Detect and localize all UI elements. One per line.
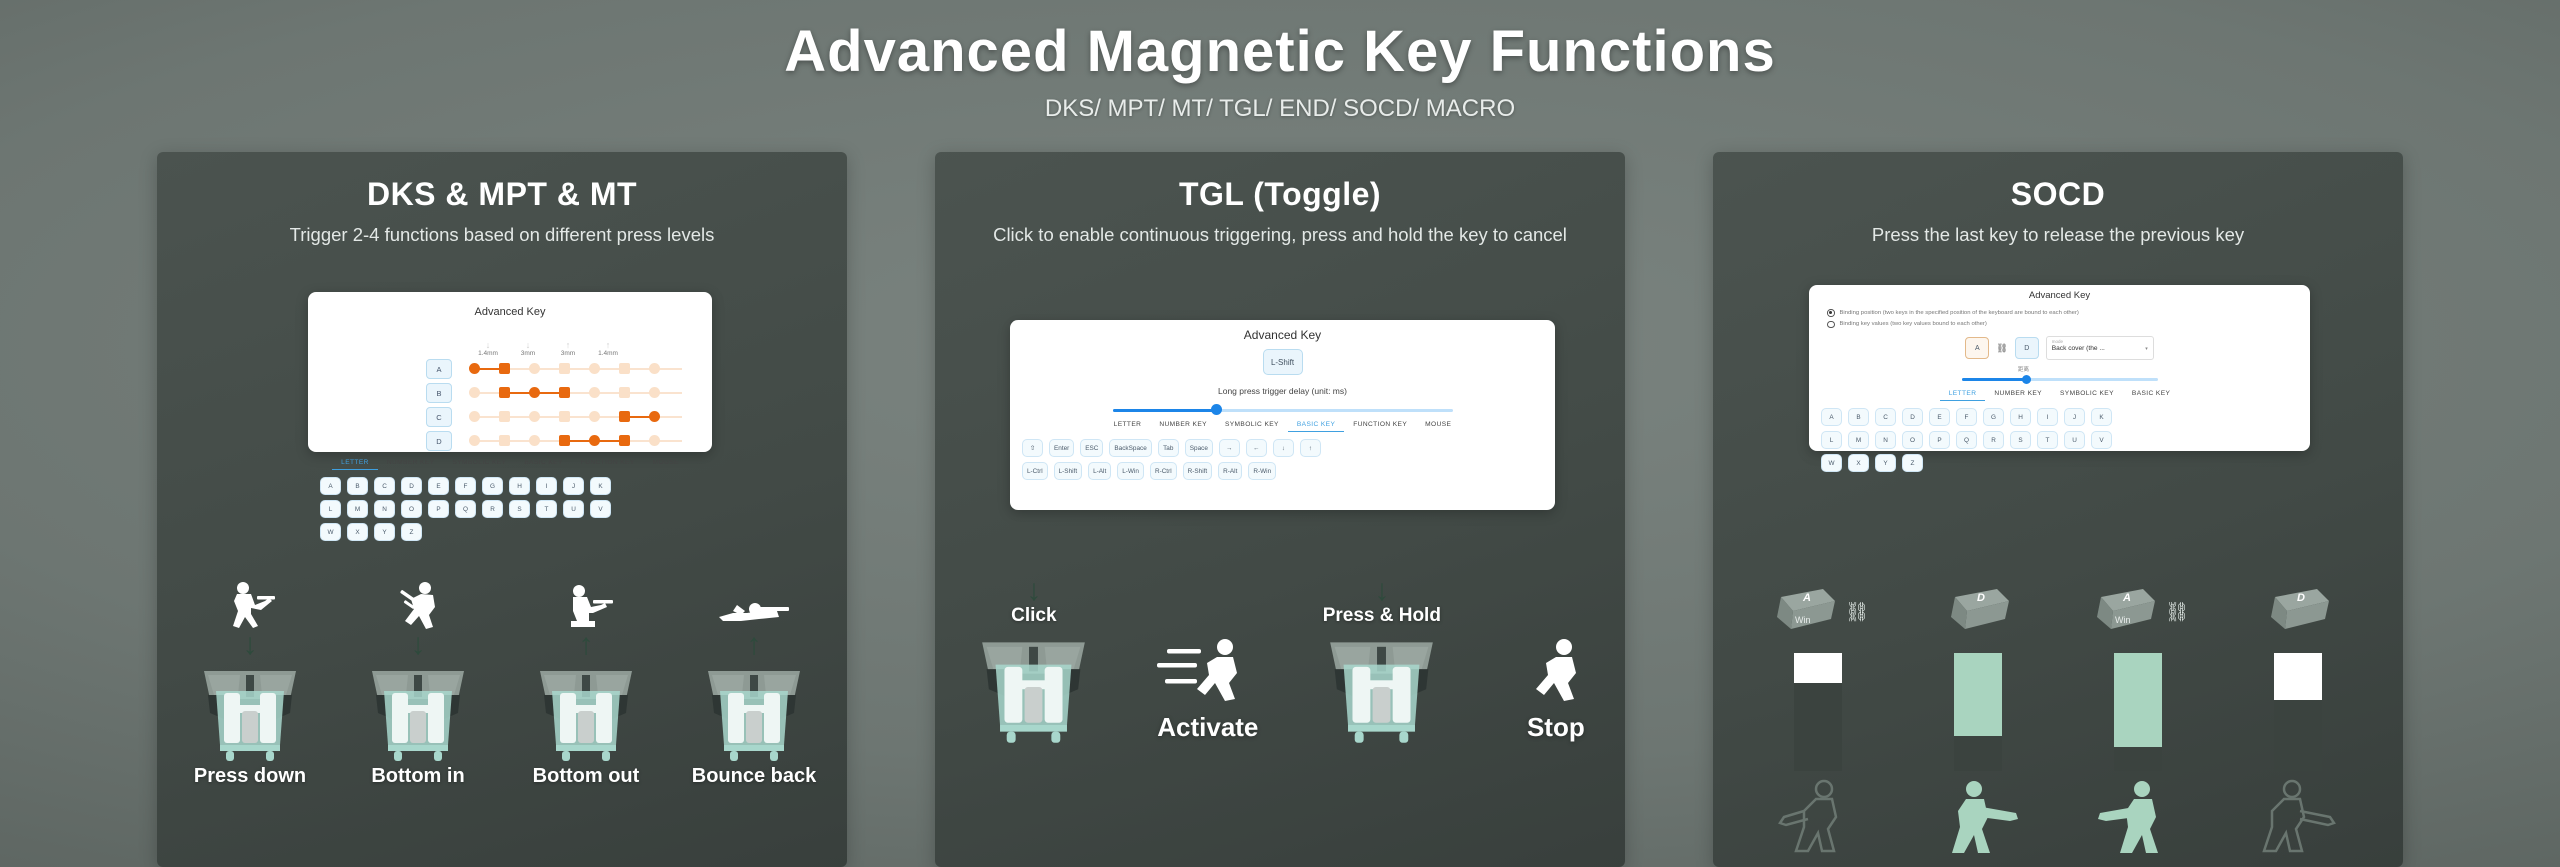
switch-illustration (343, 661, 493, 761)
panel-container: DKS & MPT & MT Trigger 2-4 functions bas… (0, 152, 2560, 867)
key-button[interactable]: S (509, 500, 530, 518)
tgl-action-row: ↓ Click (935, 577, 1625, 743)
key-button[interactable]: S (2010, 431, 2031, 449)
svg-text:A: A (2122, 592, 2131, 604)
panel-socd: SOCD Press the last key to release the p… (1713, 152, 2403, 867)
dks-depth-label: 1.4mm (588, 350, 628, 357)
key-button[interactable]: R (1983, 431, 2004, 449)
socd-key-left[interactable]: A (1965, 337, 1989, 359)
keyboard-row: W X Y Z (1821, 454, 2298, 472)
key-button[interactable]: L-Win (1117, 462, 1144, 480)
key-button[interactable]: L-Alt (1088, 462, 1111, 480)
key-button[interactable]: R-Win (1248, 462, 1276, 480)
dks-node[interactable] (589, 363, 600, 374)
tab-number-key[interactable]: NUMBER KEY (378, 459, 444, 470)
slider-knob[interactable] (1211, 404, 1222, 415)
tab-symbolic-key[interactable]: SYMBOLIC KEY (1216, 421, 1288, 432)
slider-fill (1113, 409, 1218, 412)
socd-mode-select[interactable]: mode Back cover (the ... ▾ (2046, 336, 2154, 360)
socd-distance-slider[interactable] (1962, 375, 2158, 384)
tgl-delay-label: Long press trigger delay (unit: ms) (1010, 386, 1555, 396)
stage-label: Bottom in (343, 765, 493, 788)
svg-text:Win: Win (2115, 615, 2131, 625)
key-button[interactable]: M (347, 500, 368, 518)
dks-depth-label: 3mm (508, 350, 548, 357)
svg-text:A: A (1802, 592, 1811, 604)
tgl-selected-key[interactable]: L-Shift (1263, 349, 1303, 375)
soldier-standing-icon (175, 577, 325, 631)
dks-node[interactable] (469, 387, 480, 398)
switch-illustration (679, 661, 829, 761)
arrow-down-icon: ↓ (935, 577, 1133, 605)
key-button[interactable]: Y (1875, 454, 1896, 472)
dks-node[interactable] (619, 387, 630, 398)
socd-state: D (2223, 577, 2373, 857)
key-arrow-up-button[interactable]: ↑ (1300, 439, 1321, 457)
dks-row[interactable]: A (426, 357, 712, 381)
key-button[interactable]: N (374, 500, 395, 518)
dks-stage: ↑ (511, 577, 661, 788)
slider-fill (1962, 378, 2029, 381)
key-shift-button[interactable]: ⇧ (1022, 439, 1043, 457)
key-button[interactable]: Tab (1158, 439, 1179, 457)
tab-symbolic-key[interactable]: SYMBOLIC KEY (2051, 390, 2123, 401)
arrow-up-icon: ↑ (679, 631, 829, 659)
key-button[interactable]: Q (455, 500, 476, 518)
keyboard-row: L M N O P Q R S T U V (1821, 431, 2298, 449)
arrow-up-icon: ↑ (511, 631, 661, 659)
dks-node[interactable] (499, 435, 510, 446)
panel-tgl-subtitle: Click to enable continuous triggering, p… (935, 223, 1625, 248)
radio-button-selected[interactable] (1827, 309, 1835, 317)
radio-option-binding-key-values[interactable]: Binding key values (two key values bound… (1827, 321, 2310, 329)
dks-node[interactable] (469, 363, 480, 374)
key-button[interactable]: C (1875, 408, 1896, 426)
key-button[interactable]: R-Ctrl (1150, 462, 1177, 480)
tab-function-key[interactable]: FUNCTION KEY (1344, 421, 1416, 432)
tab-letter[interactable]: LETTER (1940, 390, 1986, 401)
key-button[interactable]: L (320, 500, 341, 518)
key-button[interactable]: D (1902, 408, 1923, 426)
socd-travel-bar (1794, 653, 1842, 771)
socd-mode-label: mode (2052, 339, 2148, 344)
soldier-filled-icon (1903, 771, 2053, 857)
switch-illustration (935, 631, 1133, 743)
soldier-running-icon (343, 577, 493, 631)
key-button[interactable]: A (1821, 408, 1842, 426)
dks-depth-col: ↓ 1.4mm (468, 340, 508, 357)
dks-node[interactable] (559, 435, 570, 446)
key-button[interactable]: F (455, 477, 476, 495)
key-button[interactable]: R-Alt (1218, 462, 1242, 480)
arrow-down-icon: ↓ (343, 631, 493, 659)
tgl-selected-key-wrap: L-Shift (1010, 349, 1555, 375)
socd-state: A Win ⛓ (2063, 577, 2213, 857)
link-icon: ⛓ (1845, 600, 1869, 624)
tgl-illustration: ↓ Click (935, 577, 1625, 867)
tgl-result-label: Stop (1487, 712, 1625, 743)
tab-mouse[interactable]: MOUSE (644, 459, 688, 470)
panel-tgl-title: TGL (Toggle) (935, 152, 1625, 213)
dks-row-key[interactable]: C (426, 407, 452, 427)
soldier-crouching-icon (511, 577, 661, 631)
key-button[interactable]: C (374, 477, 395, 495)
tgl-trigger-label: Press & Hold (1283, 605, 1481, 627)
dks-stage: ↓ (343, 577, 493, 788)
key-button[interactable]: I (536, 477, 557, 495)
key-arrow-left-button[interactable]: ← (1246, 439, 1267, 457)
arrow-down-icon: ↓ (1283, 577, 1481, 605)
key-button[interactable]: L-Shift (1054, 462, 1082, 480)
key-button[interactable]: O (1902, 431, 1923, 449)
dks-node[interactable] (619, 435, 630, 446)
dks-node[interactable] (559, 387, 570, 398)
tab-basic-key[interactable]: BASIC KEY (515, 459, 571, 470)
dks-node[interactable] (619, 363, 630, 374)
key-button[interactable]: Q (1956, 431, 1977, 449)
panel-dks-title: DKS & MPT & MT (157, 152, 847, 213)
dks-node[interactable] (529, 411, 540, 422)
dks-software-card: Advanced Key ↓ 1.4mm ↓ 3mm ↑ 3 (308, 292, 712, 452)
switch-illustration (1283, 631, 1481, 743)
socd-key-right[interactable]: D (2015, 337, 2039, 359)
slider-knob[interactable] (2022, 375, 2031, 384)
key-button[interactable]: K (590, 477, 611, 495)
key-button[interactable]: Z (1902, 454, 1923, 472)
tgl-result-activate: Activate (1139, 635, 1277, 743)
socd-software-card: Advanced Key Binding position (two keys … (1809, 285, 2310, 451)
key-button[interactable]: V (590, 500, 611, 518)
chevron-down-icon[interactable]: ▾ (2145, 346, 2148, 352)
tab-basic-key[interactable]: BASIC KEY (2123, 390, 2179, 401)
dks-illustration: ↓ (157, 577, 847, 867)
stage-label: Press down (175, 765, 325, 788)
dks-node[interactable] (529, 387, 540, 398)
key-button[interactable]: U (2064, 431, 2085, 449)
stage-label: Bounce back (679, 765, 829, 788)
tab-symbolic-key[interactable]: SYMBOLIC KEY (443, 459, 515, 470)
dks-node[interactable] (649, 387, 660, 398)
dks-track[interactable] (468, 407, 686, 427)
tab-basic-key[interactable]: BASIC KEY (1288, 421, 1344, 432)
dks-row[interactable]: B (426, 381, 712, 405)
panel-tgl: TGL (Toggle) Click to enable continuous … (935, 152, 1625, 867)
dks-node[interactable] (559, 363, 570, 374)
dks-stage-row: ↓ (157, 577, 847, 788)
key-button[interactable]: Space (1185, 439, 1213, 457)
socd-mode-value: Back cover (the ... (2052, 345, 2148, 352)
key-button[interactable]: F (1956, 408, 1977, 426)
dks-card-title: Advanced Key (308, 306, 712, 318)
keycap-d: D (1903, 577, 2053, 647)
tgl-key-category-tabs: LETTER NUMBER KEY SYMBOLIC KEY BASIC KEY… (1010, 421, 1555, 432)
arrow-down-icon: ↓ (175, 631, 325, 659)
arrow-down-icon: ↓ (468, 340, 508, 350)
tgl-keyboard: ⇧ Enter ESC BackSpace Tab Space → ← ↓ ↑ … (1010, 432, 1555, 480)
key-button[interactable]: W (320, 523, 341, 541)
tab-function-key[interactable]: FUNCTION KEY (572, 459, 644, 470)
dks-node[interactable] (589, 387, 600, 398)
key-button[interactable]: G (1983, 408, 2004, 426)
link-icon: ⛓ (1996, 343, 2007, 354)
socd-travel-fill (1954, 653, 2002, 736)
dks-timeline-grid: ↓ 1.4mm ↓ 3mm ↑ 3mm ↑ 1. (426, 327, 712, 453)
dks-node[interactable] (499, 387, 510, 398)
socd-state-row: A Win ⛓ (1713, 577, 2403, 857)
key-button[interactable]: Z (401, 523, 422, 541)
soldier-outline-icon (1743, 771, 1893, 857)
key-button[interactable]: D (401, 477, 422, 495)
keycap-a: A Win ⛓ (2063, 577, 2213, 647)
dks-node[interactable] (619, 411, 630, 422)
key-button[interactable]: H (2010, 408, 2031, 426)
dks-node[interactable] (649, 411, 660, 422)
dks-track[interactable] (468, 431, 686, 451)
dks-depth-col: ↓ 3mm (508, 340, 548, 357)
radio-button[interactable] (1827, 321, 1835, 329)
dks-track[interactable] (468, 383, 686, 403)
socd-key-category-tabs: LETTER NUMBER KEY SYMBOLIC KEY BASIC KEY (1809, 390, 2310, 401)
dks-stage: ↓ (175, 577, 325, 788)
dks-row[interactable]: C (426, 405, 712, 429)
socd-travel-fill (2274, 653, 2322, 700)
runner-icon (1139, 635, 1277, 712)
key-arrow-down-button[interactable]: ↓ (1273, 439, 1294, 457)
panel-dks-subtitle: Trigger 2-4 functions based on different… (157, 223, 847, 248)
keyboard-row: L-Ctrl L-Shift L-Alt L-Win R-Ctrl R-Shif… (1022, 462, 1543, 480)
tgl-result-stop: Stop (1487, 635, 1625, 743)
dks-depth-col: ↑ 1.4mm (588, 340, 628, 357)
dks-node[interactable] (649, 435, 660, 446)
radio-label: Binding key values (two key values bound… (1840, 321, 1987, 327)
link-icon: ⛓ (2165, 600, 2189, 624)
dks-row[interactable]: D (426, 429, 712, 453)
dks-key-category-tabs: LETTER NUMBER KEY SYMBOLIC KEY BASIC KEY… (308, 459, 712, 470)
keyboard-row: A B C D E F G H I J K (320, 477, 700, 495)
tab-number-key[interactable]: NUMBER KEY (1150, 421, 1216, 432)
tgl-software-card: Advanced Key L-Shift Long press trigger … (1010, 320, 1555, 510)
dks-node[interactable] (499, 363, 510, 374)
socd-keyboard: A B C D E F G H I J K L M (1809, 401, 2310, 472)
dks-depth-header: ↓ 1.4mm ↓ 3mm ↑ 3mm ↑ 1. (468, 327, 712, 357)
dks-row-key[interactable]: B (426, 383, 452, 403)
soldier-outline-icon (2223, 771, 2373, 857)
key-button[interactable]: H (509, 477, 530, 495)
socd-slider-label: 距离 (1737, 365, 2310, 373)
keycap-a: A Win ⛓ (1743, 577, 1893, 647)
dks-node[interactable] (499, 411, 510, 422)
key-arrow-right-button[interactable]: → (1219, 439, 1240, 457)
keyboard-row: L M N O P Q R S T U V (320, 500, 700, 518)
tgl-action-hold: ↓ Press & Hold (1283, 577, 1481, 743)
socd-binding-row: A ⛓ D mode Back cover (the ... ▾ (1809, 336, 2310, 360)
dks-node[interactable] (649, 363, 660, 374)
panel-socd-title: SOCD (1713, 152, 2403, 213)
dks-node[interactable] (529, 363, 540, 374)
panel-socd-subtitle: Press the last key to release the previo… (1713, 223, 2403, 248)
switch-illustration (511, 661, 661, 761)
key-button[interactable]: I (2037, 408, 2058, 426)
arrow-down-icon: ↓ (508, 340, 548, 350)
dks-stage: ↑ (679, 577, 829, 788)
dks-node[interactable] (589, 411, 600, 422)
socd-travel-fill (1794, 653, 1842, 683)
svg-text:D: D (2297, 592, 2305, 604)
key-button[interactable]: X (347, 523, 368, 541)
dks-node[interactable] (589, 435, 600, 446)
socd-state: A Win ⛓ (1743, 577, 1893, 857)
soldier-prone-icon (679, 577, 829, 631)
key-button[interactable]: P (428, 500, 449, 518)
key-button[interactable]: N (1875, 431, 1896, 449)
dks-node[interactable] (469, 435, 480, 446)
tab-number-key[interactable]: NUMBER KEY (1985, 390, 2051, 401)
key-button[interactable]: E (1929, 408, 1950, 426)
socd-binding-options: Binding position (two keys in the specif… (1827, 309, 2310, 328)
key-button[interactable]: BackSpace (1109, 439, 1151, 457)
dks-row-key[interactable]: A (426, 359, 452, 379)
key-button[interactable]: V (2091, 431, 2112, 449)
tab-letter[interactable]: LETTER (332, 459, 378, 470)
key-button[interactable]: R (482, 500, 503, 518)
arrow-up-icon: ↑ (548, 340, 588, 350)
key-button[interactable]: G (482, 477, 503, 495)
key-button[interactable]: J (563, 477, 584, 495)
key-button[interactable]: E (428, 477, 449, 495)
radio-option-binding-position[interactable]: Binding position (two keys in the specif… (1827, 309, 2310, 317)
keyboard-row: A B C D E F G H I J K (1821, 408, 2298, 426)
socd-travel-bar (2274, 653, 2322, 771)
tgl-trigger-label: Click (935, 605, 1133, 627)
dks-node[interactable] (529, 435, 540, 446)
page-title: Advanced Magnetic Key Functions (0, 18, 2560, 85)
key-button[interactable]: X (1848, 454, 1869, 472)
dks-node[interactable] (559, 411, 570, 422)
key-button[interactable]: A (320, 477, 341, 495)
switch-illustration (175, 661, 325, 761)
key-button[interactable]: M (1848, 431, 1869, 449)
runner-icon (1487, 635, 1625, 712)
page-header: Advanced Magnetic Key Functions DKS/ MPT… (0, 0, 2560, 123)
key-button[interactable]: W (1821, 454, 1842, 472)
dks-depth-col: ↑ 3mm (548, 340, 588, 357)
key-button[interactable]: B (1848, 408, 1869, 426)
dks-node[interactable] (469, 411, 480, 422)
key-button[interactable]: J (2064, 408, 2085, 426)
key-button[interactable]: P (1929, 431, 1950, 449)
soldier-filled-icon (2063, 771, 2213, 857)
infographic-page: Advanced Magnetic Key Functions DKS/ MPT… (0, 0, 2560, 867)
key-button[interactable]: L-Ctrl (1022, 462, 1048, 480)
key-button[interactable]: R-Shift (1183, 462, 1213, 480)
tgl-delay-slider[interactable] (1113, 405, 1453, 415)
socd-travel-bar (1954, 653, 2002, 771)
socd-card-title: Advanced Key (1809, 290, 2310, 301)
svg-text:Win: Win (1795, 615, 1811, 625)
keyboard-row: ⇧ Enter ESC BackSpace Tab Space → ← ↓ ↑ (1022, 439, 1543, 457)
socd-illustration: A Win ⛓ (1713, 577, 2403, 867)
keyboard-row: W X Y Z (320, 523, 700, 541)
tab-mouse[interactable]: MOUSE (1416, 421, 1460, 432)
tgl-card-title: Advanced Key (1010, 328, 1555, 342)
key-button[interactable]: T (536, 500, 557, 518)
key-button[interactable]: Enter (1049, 439, 1074, 457)
socd-travel-fill (2114, 653, 2162, 747)
dks-depth-label: 1.4mm (468, 350, 508, 357)
arrow-up-icon: ↑ (588, 340, 628, 350)
dks-track[interactable] (468, 359, 686, 379)
key-button[interactable]: U (563, 500, 584, 518)
tab-letter[interactable]: LETTER (1105, 421, 1151, 432)
key-button[interactable]: B (347, 477, 368, 495)
dks-keyboard: A B C D E F G H I J K L M (308, 470, 712, 541)
panel-dks: DKS & MPT & MT Trigger 2-4 functions bas… (157, 152, 847, 867)
socd-travel-bar (2114, 653, 2162, 771)
dks-row-key[interactable]: D (426, 431, 452, 451)
keycap-d: D (2223, 577, 2373, 647)
tgl-action-click: ↓ Click (935, 577, 1133, 743)
key-button[interactable]: L (1821, 431, 1842, 449)
key-button[interactable]: Y (374, 523, 395, 541)
stage-label: Bottom out (511, 765, 661, 788)
radio-label: Binding position (two keys in the specif… (1840, 310, 2079, 316)
key-button[interactable]: O (401, 500, 422, 518)
tgl-result-label: Activate (1139, 712, 1277, 743)
page-subtitle: DKS/ MPT/ MT/ TGL/ END/ SOCD/ MACRO (0, 95, 2560, 123)
socd-state: D (1903, 577, 2053, 857)
key-button[interactable]: ESC (1080, 439, 1103, 457)
key-button[interactable]: T (2037, 431, 2058, 449)
svg-text:D: D (1977, 592, 1985, 604)
key-button[interactable]: K (2091, 408, 2112, 426)
dks-depth-label: 3mm (548, 350, 588, 357)
